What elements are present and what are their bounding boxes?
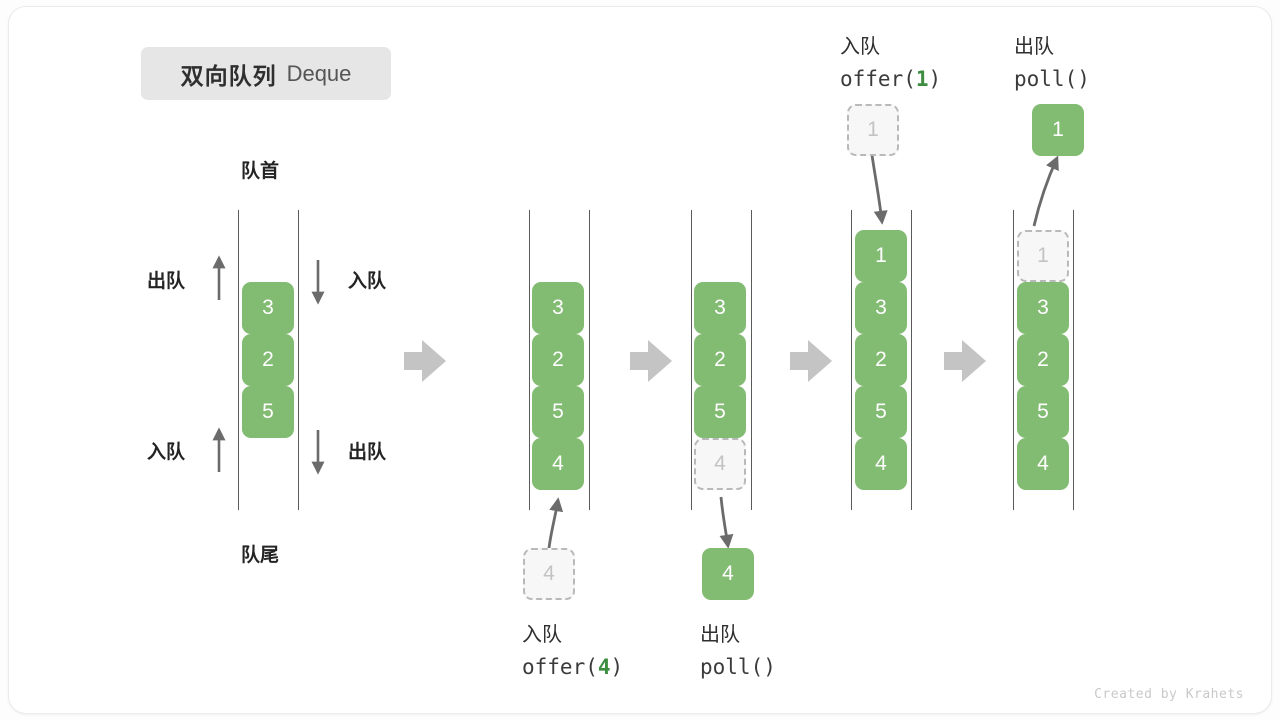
panel4-caption: 入队 offer(1) [840,32,941,96]
panel4-code-post: ) [929,67,942,91]
panel5-ghost-cell: 1 [1017,230,1069,282]
panel3-code-post: ) [763,655,776,679]
panel2-rail-left [529,210,530,510]
panel5-cell-1: 2 [1017,334,1069,386]
footer-credit: Created by Krahets [1094,687,1244,702]
panel4-caption-code: offer(1) [840,63,941,96]
title-chip: 双向队列 Deque [141,47,391,100]
panel5-popped-cell: 1 [1032,104,1084,156]
panel5-cell-0: 3 [1017,282,1069,334]
panel4-code-arg: 1 [916,67,929,91]
panel5-rail-right [1073,210,1074,510]
panel2-code-post: ) [611,655,624,679]
panel5-caption: 出队 poll() [1014,32,1090,96]
title-english: Deque [287,61,352,87]
panel2-ghost-cell: 4 [523,548,575,600]
panel1-left-bottom-label: 入队 [147,437,185,464]
panel3-popped-cell: 4 [702,548,754,600]
panel3-cell-0: 3 [694,282,746,334]
panel2-caption: 入队 offer(4) [522,620,623,684]
panel4-cell-2: 2 [855,334,907,386]
panel5-rail-left [1013,210,1014,510]
panel2-cell-2: 5 [532,386,584,438]
panel2-rail-right [589,210,590,510]
panel1-right-top-label: 入队 [348,266,386,293]
title-chinese: 双向队列 [181,57,277,91]
panel4-cell-0: 1 [855,230,907,282]
panel1-cell-0: 3 [242,282,294,334]
panel3-cell-2: 5 [694,386,746,438]
panel5-cell-3: 4 [1017,438,1069,490]
panel4-cell-4: 4 [855,438,907,490]
panel4-code-pre: offer( [840,67,916,91]
panel2-code-arg: 4 [598,655,611,679]
panel1-rail-left [238,210,239,510]
panel1-tail-label: 队尾 [241,540,279,567]
panel3-ghost-cell: 4 [694,438,746,490]
panel4-rail-left [851,210,852,510]
panel3-rail-right [751,210,752,510]
diagram-canvas: 双向队列 Deque [0,0,1280,720]
panel4-caption-cn: 入队 [840,32,941,63]
panel1-left-top-label: 出队 [147,266,185,293]
panel5-caption-code: poll() [1014,63,1090,96]
panel3-caption: 出队 poll() [700,620,776,684]
panel5-cell-2: 5 [1017,386,1069,438]
panel2-code-pre: offer( [522,655,598,679]
panel1-cell-2: 5 [242,386,294,438]
panel2-cell-0: 3 [532,282,584,334]
panel1-rail-right [298,210,299,510]
panel4-cell-3: 5 [855,386,907,438]
panel3-caption-cn: 出队 [700,620,776,651]
panel5-code-post: ) [1077,67,1090,91]
panel2-cell-3: 4 [532,438,584,490]
panel3-caption-code: poll() [700,651,776,684]
panel2-caption-code: offer(4) [522,651,623,684]
panel1-right-bottom-label: 出队 [348,437,386,464]
panel2-cell-1: 2 [532,334,584,386]
panel2-caption-cn: 入队 [522,620,623,651]
panel4-rail-right [911,210,912,510]
panel1-cell-1: 2 [242,334,294,386]
panel5-code-pre: poll( [1014,67,1077,91]
panel3-rail-left [691,210,692,510]
panel4-cell-1: 3 [855,282,907,334]
panel5-caption-cn: 出队 [1014,32,1090,63]
panel1-head-label: 队首 [241,156,279,183]
panel3-code-pre: poll( [700,655,763,679]
panel4-ghost-cell: 1 [847,104,899,156]
panel3-cell-1: 2 [694,334,746,386]
